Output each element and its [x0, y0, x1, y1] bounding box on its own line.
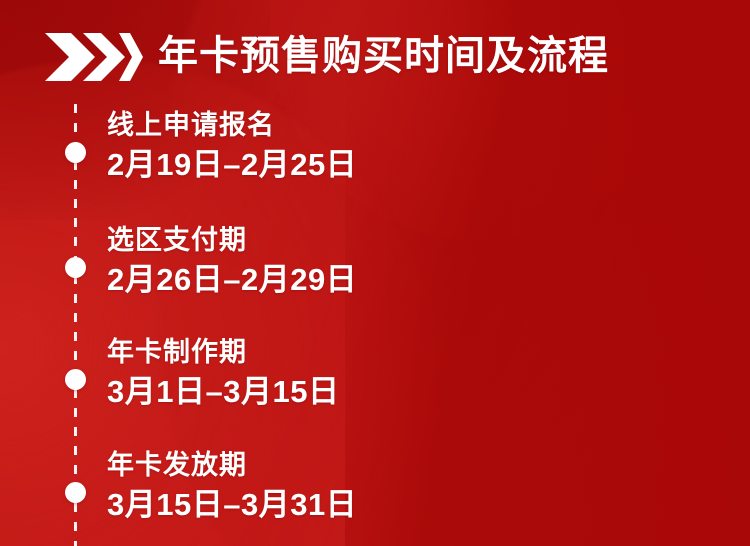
- timeline-item-text: 线上申请报名 2月19日–2月25日: [107, 108, 567, 184]
- triple-chevron-right-icon: [45, 33, 143, 81]
- timeline-item: 线上申请报名 2月19日–2月25日: [0, 104, 750, 219]
- annual-card-presale-timeline-poster: 年卡预售购买时间及流程 线上申请报名 2月19日–2月25日 选区支付期 2月2…: [0, 0, 750, 546]
- timeline-item-label: 选区支付期: [107, 223, 567, 257]
- timeline-item-text: 选区支付期 2月26日–2月29日: [107, 223, 567, 299]
- timeline-item: 年卡制作期 3月1日–3月15日: [0, 331, 750, 446]
- timeline-dot-icon: [65, 142, 86, 163]
- timeline-item-label: 年卡发放期: [107, 448, 567, 482]
- timeline-item-date: 2月19日–2月25日: [107, 146, 567, 184]
- timeline-item-date: 3月15日–3月31日: [107, 486, 567, 524]
- poster-header: 年卡预售购买时间及流程: [0, 0, 750, 104]
- timeline-dot-icon: [65, 257, 86, 278]
- timeline-item: 年卡发放期 3月15日–3月31日: [0, 444, 750, 546]
- timeline-item-date: 2月26日–2月29日: [107, 261, 567, 299]
- page-title: 年卡预售购买时间及流程: [158, 30, 609, 82]
- timeline-item: 选区支付期 2月26日–2月29日: [0, 219, 750, 334]
- timeline-dot-icon: [65, 482, 86, 503]
- timeline-item-label: 线上申请报名: [107, 108, 567, 142]
- timeline-item-date: 3月1日–3月15日: [107, 373, 567, 411]
- timeline: 线上申请报名 2月19日–2月25日 选区支付期 2月26日–2月29日 年卡制…: [0, 104, 750, 546]
- timeline-item-label: 年卡制作期: [107, 335, 567, 369]
- timeline-item-text: 年卡制作期 3月1日–3月15日: [107, 335, 567, 411]
- timeline-item-text: 年卡发放期 3月15日–3月31日: [107, 448, 567, 524]
- timeline-dot-icon: [65, 369, 86, 390]
